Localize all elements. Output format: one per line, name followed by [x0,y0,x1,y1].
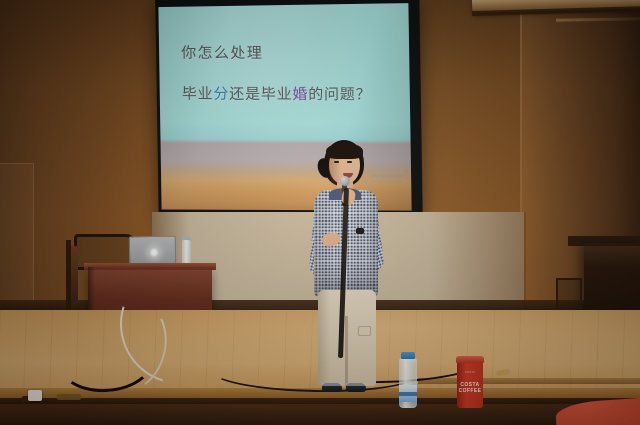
costa-cup-sub-label: COSTA [456,371,484,374]
wall-panel-left [0,163,34,313]
presenter-hair-front [326,143,363,159]
presenter-shoe-left-strap [322,383,342,386]
microphone-icon [340,176,350,186]
costa-cup-lid [456,356,484,363]
apple-logo-icon [150,248,158,257]
floor-below-stage [0,404,640,425]
costa-coffee-cup: COSTA COSTA COFFEE [456,356,484,408]
presenter-eye-left [334,161,339,163]
presenter-trousers-seam [345,316,348,386]
costa-cup-label: COSTA COFFEE [456,382,484,394]
presenter-eye-right [347,161,352,163]
water-bottle-on-stage [398,352,418,408]
water-bottle-cap [401,352,415,359]
presenter-trousers-shadow [318,290,330,386]
water-bottle-label-stripe [399,392,417,396]
piano-cabinet-highlight [584,246,640,268]
macbook-laptop [129,236,177,267]
presenter-wristwatch [356,228,364,234]
presenter-shoe-right-strap [346,383,366,386]
floor-cable-plate [57,394,81,400]
power-adapter [28,390,42,401]
lecture-hall-photo: 你怎么处理 毕业分还是毕业婚的问题？ 中国职业规划师协会 Career Plan… [0,0,640,425]
presenter-trousers-pocket [358,326,371,336]
stage-step-right [418,378,640,384]
